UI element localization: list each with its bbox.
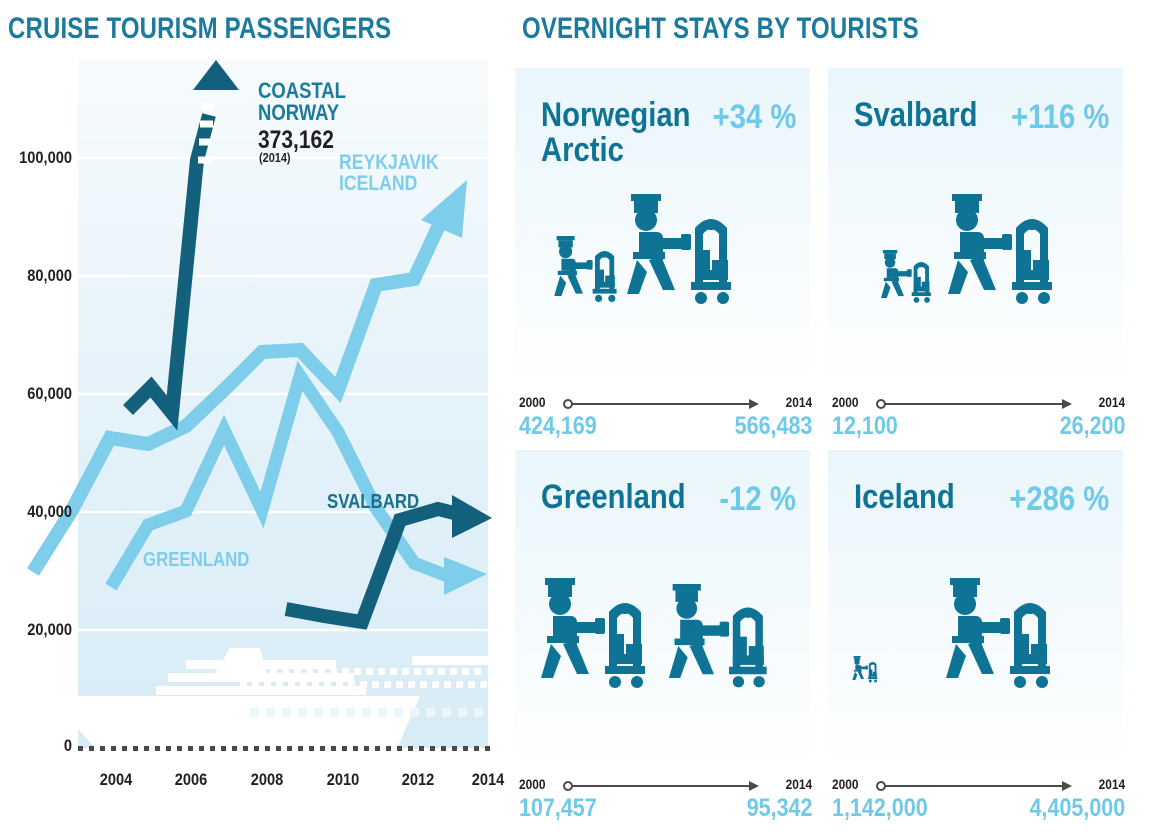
card-illustration <box>828 570 1123 720</box>
x-tick-2004: 2004 <box>85 770 147 790</box>
timeline-end-year: 2014 <box>786 776 812 792</box>
overnight-stays-cards: Norwegian Arctic +34 % <box>515 68 1155 768</box>
timeline-end-value: 4,405,000 <box>1029 794 1125 823</box>
bellhop-luggage-cart-icon-small <box>852 656 877 682</box>
y-tick-60000: 60,000 <box>10 384 72 404</box>
timeline-end-year: 2014 <box>786 394 812 410</box>
bellhop-luggage-cart-icon-large <box>946 578 1050 688</box>
timeline-end-value: 95,342 <box>746 794 812 823</box>
timeline-arrow-icon <box>876 778 1076 794</box>
card-percent-change: +34 % <box>712 98 796 137</box>
x-tick-2012: 2012 <box>387 770 449 790</box>
y-tick-0: 0 <box>10 736 72 756</box>
bellhop-luggage-cart-icon-large <box>669 584 767 687</box>
card-title: Svalbard <box>854 98 978 133</box>
card-timeline: 2000 2014 1,142,000 4,405,000 <box>832 776 1125 832</box>
series-label-coastal-norway: COASTAL NORWAY <box>258 80 346 125</box>
timeline-start-year: 2000 <box>519 394 545 410</box>
card-percent-change: +286 % <box>1009 480 1109 519</box>
card-illustration <box>828 188 1123 338</box>
card-illustration <box>515 188 810 338</box>
bellhop-luggage-cart-icon-large <box>948 194 1052 304</box>
card-timeline: 2000 2014 424,169 566,483 <box>519 394 812 450</box>
timeline-start-value: 424,169 <box>519 412 597 441</box>
card-title: Norwegian Arctic <box>541 98 690 167</box>
card-title: Greenland <box>541 480 686 515</box>
card-title: Iceland <box>854 480 955 515</box>
timeline-arrow-icon <box>563 396 763 412</box>
series-label-greenland: GREENLAND <box>143 550 249 570</box>
y-tick-80000: 80,000 <box>10 266 72 286</box>
timeline-start-year: 2000 <box>832 394 858 410</box>
card-timeline: 2000 2014 12,100 26,200 <box>832 394 1125 450</box>
y-tick-40000: 40,000 <box>10 502 72 522</box>
x-tick-2010: 2010 <box>312 770 374 790</box>
right-panel-title: OVERNIGHT STAYS BY TOURISTS <box>522 12 919 46</box>
timeline-start-value: 12,100 <box>832 412 898 441</box>
timeline-start-value: 1,142,000 <box>832 794 928 823</box>
x-tick-2008: 2008 <box>236 770 298 790</box>
infographic-root: CRUISE TOURISM PASSENGERS <box>0 0 1170 828</box>
series-label-reykjavik-iceland: REYKJAVIK ICELAND <box>339 152 439 195</box>
card-greenland[interactable]: Greenland -12 % <box>515 450 810 770</box>
timeline-end-year: 2014 <box>1099 394 1125 410</box>
bellhop-luggage-cart-icon-small <box>554 236 616 302</box>
timeline-end-value: 26,200 <box>1059 412 1125 441</box>
card-percent-change: -12 % <box>720 480 796 519</box>
timeline-end-value: 566,483 <box>734 412 812 441</box>
timeline-arrow-icon <box>563 778 763 794</box>
card-svalbard[interactable]: Svalbard +116 % <box>828 68 1123 388</box>
timeline-start-year: 2000 <box>832 776 858 792</box>
card-norwegian-arctic[interactable]: Norwegian Arctic +34 % <box>515 68 810 388</box>
x-tick-2006: 2006 <box>160 770 222 790</box>
bellhop-luggage-cart-icon-small <box>881 250 931 303</box>
series-label-svalbard: SVALBARD <box>327 492 419 512</box>
series-year-coastal-norway: (2014) <box>259 150 291 165</box>
left-panel-title: CRUISE TOURISM PASSENGERS <box>8 12 391 46</box>
y-tick-100000: 100,000 <box>10 148 72 168</box>
timeline-start-year: 2000 <box>519 776 545 792</box>
x-tick-2014: 2014 <box>457 770 519 790</box>
card-percent-change: +116 % <box>1011 98 1109 137</box>
timeline-end-year: 2014 <box>1099 776 1125 792</box>
timeline-arrow-icon <box>876 396 1076 412</box>
card-timeline: 2000 2014 107,457 95,342 <box>519 776 812 832</box>
timeline-start-value: 107,457 <box>519 794 597 823</box>
bellhop-luggage-cart-icon-large <box>627 194 731 304</box>
card-iceland[interactable]: Iceland +286 % <box>828 450 1123 770</box>
card-illustration <box>515 570 810 720</box>
bellhop-luggage-cart-icon-small <box>541 578 645 688</box>
y-tick-20000: 20,000 <box>10 620 72 640</box>
